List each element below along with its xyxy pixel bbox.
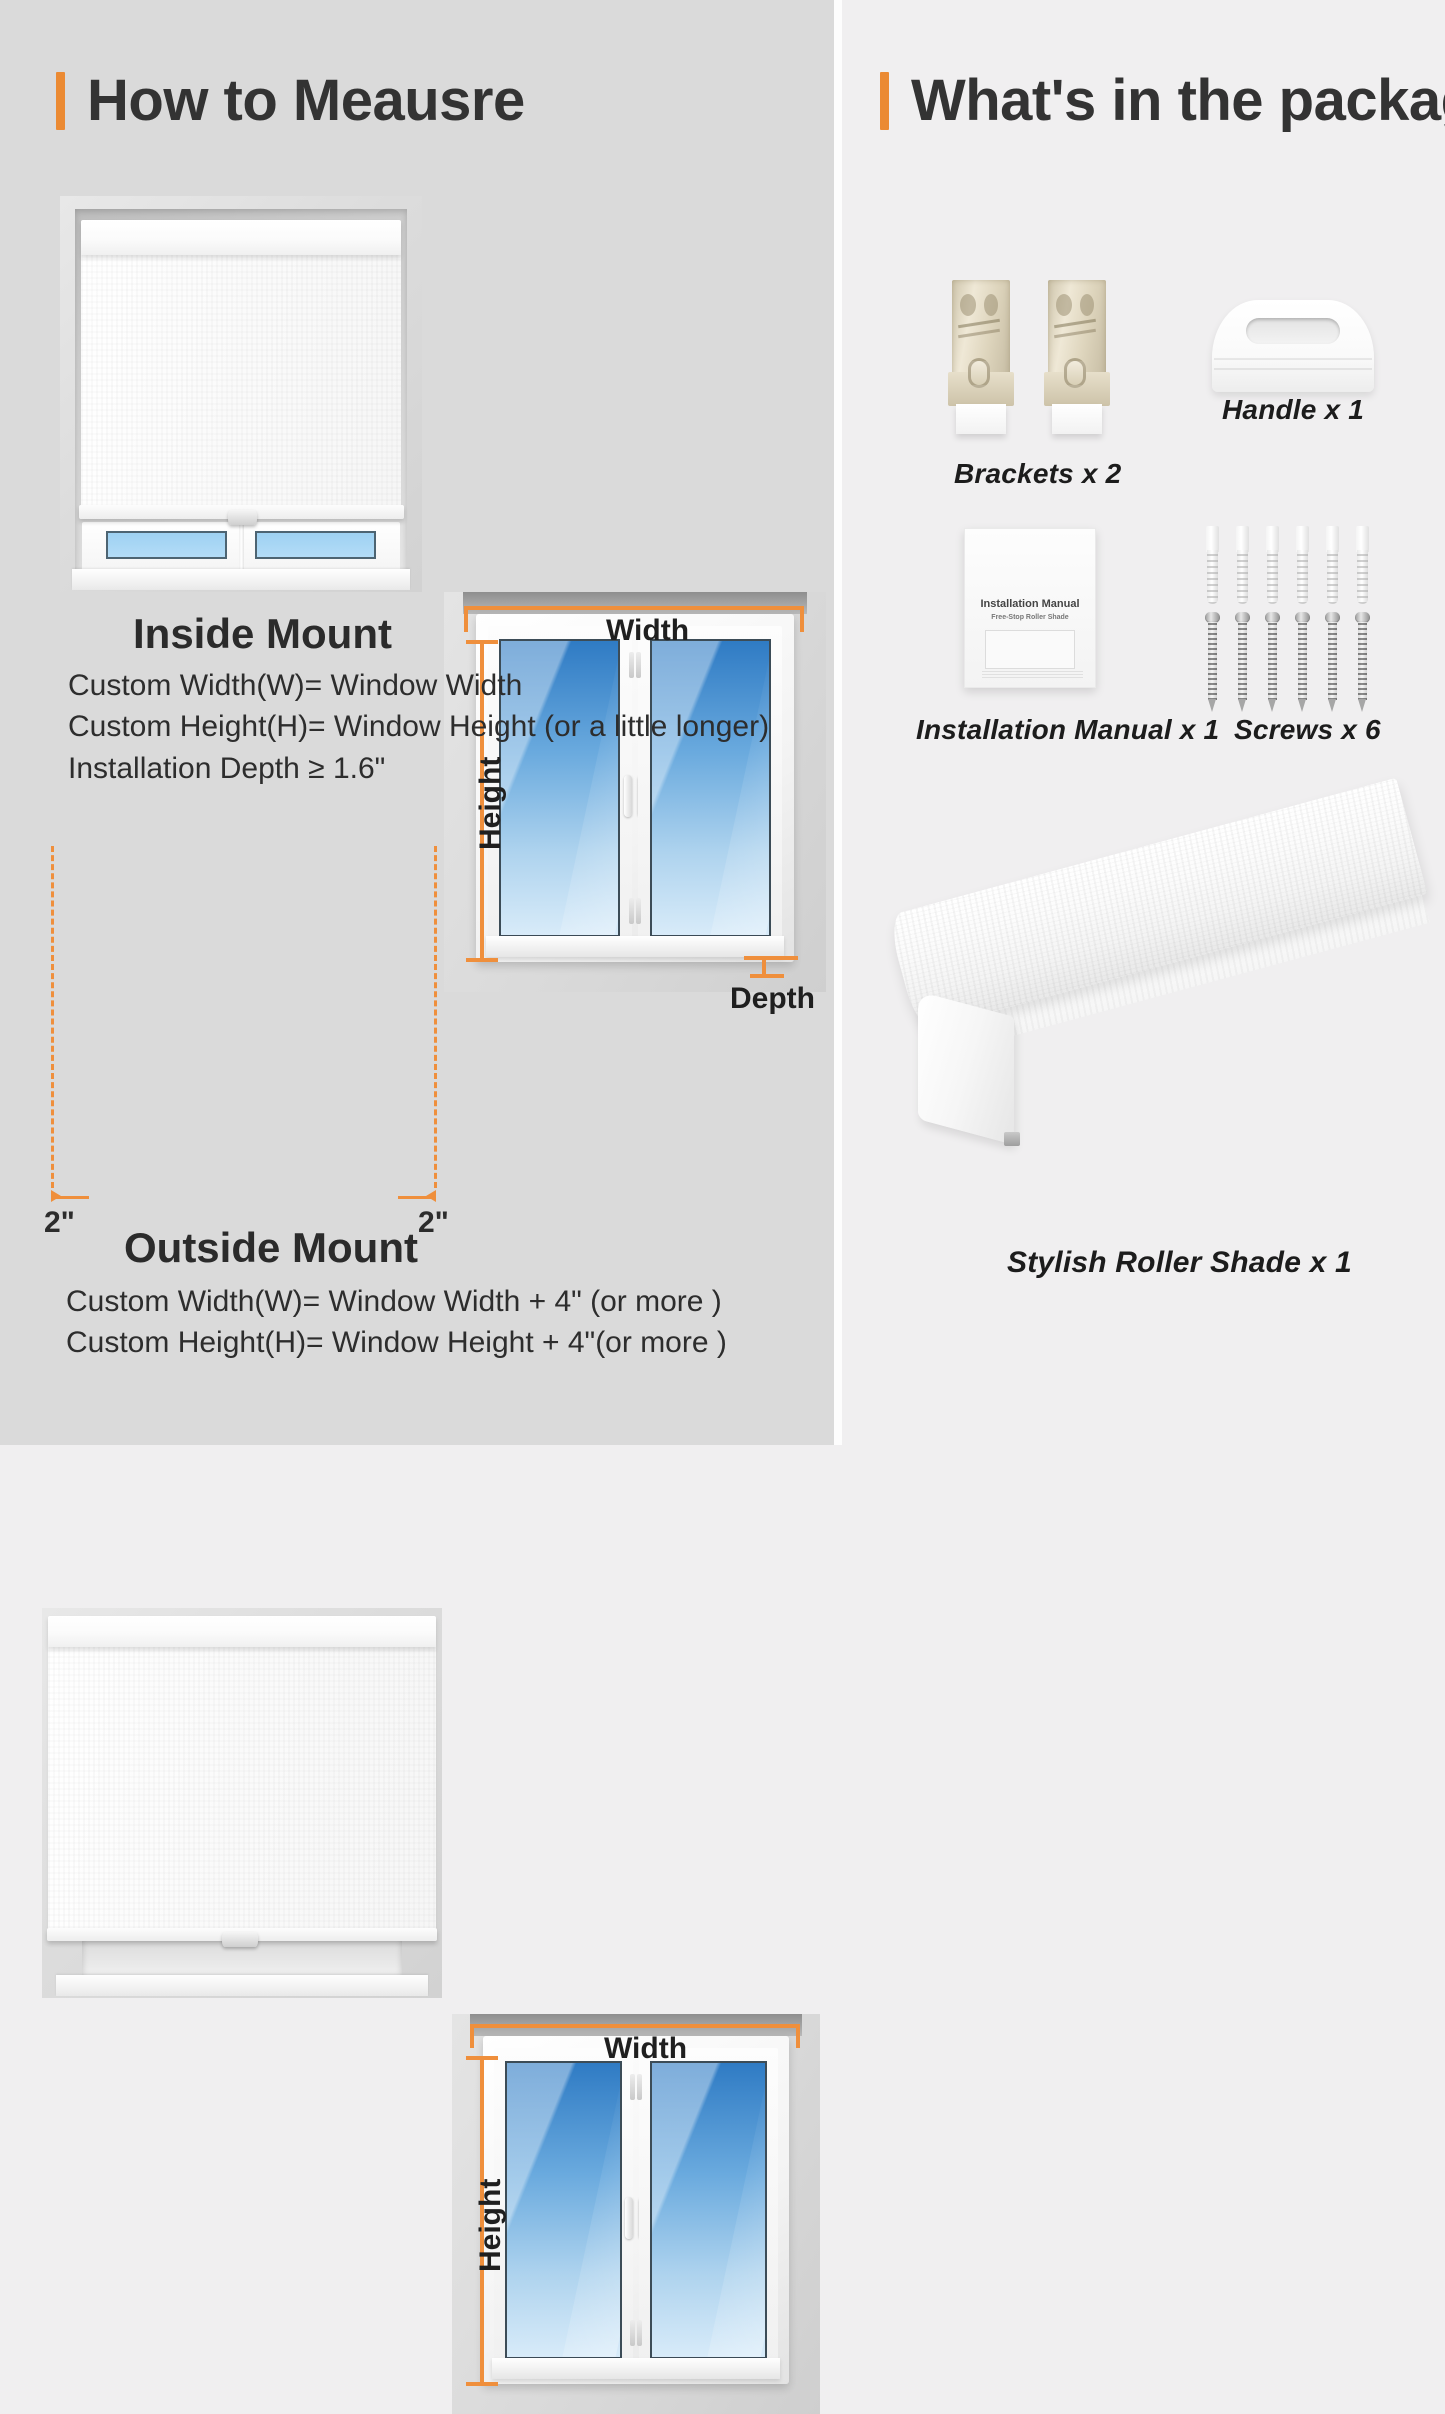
bracket-tab bbox=[1052, 404, 1102, 434]
brackets-label: Brackets x 2 bbox=[954, 458, 1121, 490]
anchor-neck bbox=[1326, 526, 1339, 552]
outside-mount-specs: Custom Width(W)= Window Width + 4" (or m… bbox=[66, 1284, 727, 1367]
overhang-guide-right bbox=[434, 846, 437, 1188]
window-sash-left bbox=[494, 2048, 633, 2372]
manual-cover-diagram bbox=[985, 630, 1075, 668]
window-pane-left bbox=[505, 2061, 622, 2359]
shade-fabric bbox=[81, 255, 401, 506]
screw-shaft bbox=[1328, 622, 1337, 700]
outside-mount-shade-illustration bbox=[42, 1608, 442, 1998]
bracket-slot bbox=[1064, 358, 1086, 388]
height-guide-tick-bottom bbox=[466, 2382, 498, 2386]
hinge-icon bbox=[637, 2320, 642, 2346]
shade-fabric bbox=[48, 1647, 436, 1928]
anchor-body bbox=[1267, 550, 1278, 604]
window-lintel bbox=[463, 592, 807, 614]
shade-headrail bbox=[48, 1616, 436, 1647]
anchor-neck bbox=[1266, 526, 1279, 552]
manual-cover-subtitle: Free-Stop Roller Shade bbox=[964, 614, 1096, 621]
arrow-icon bbox=[51, 1190, 61, 1202]
anchor-body bbox=[1357, 550, 1368, 604]
screw-unit bbox=[1265, 612, 1280, 712]
lower-window-sash bbox=[82, 522, 399, 575]
anchor-neck bbox=[1206, 526, 1219, 552]
screw-unit bbox=[1205, 612, 1220, 712]
mounting-bracket-icon bbox=[938, 280, 1148, 450]
width-guide-tick-left bbox=[470, 2024, 474, 2048]
window-glass-right bbox=[255, 531, 376, 559]
roller-shade-label: Stylish Roller Shade x 1 bbox=[1007, 1246, 1352, 1280]
width-guide-tick-left bbox=[464, 606, 468, 632]
screw-shaft bbox=[1268, 622, 1277, 700]
bracket-unit bbox=[948, 280, 1014, 438]
depth-label: Depth bbox=[730, 982, 815, 1016]
window-frame bbox=[483, 2036, 788, 2384]
handle-seam bbox=[1214, 358, 1372, 360]
spec-line: Installation Depth ≥ 1.6" bbox=[68, 751, 769, 786]
shade-pull-handle bbox=[228, 510, 257, 524]
wall-anchor bbox=[1234, 526, 1251, 604]
anchor-body bbox=[1297, 550, 1308, 604]
height-label: Height bbox=[474, 2179, 508, 2272]
spec-line: Custom Width(W)= Window Width + 4" (or m… bbox=[66, 1284, 727, 1319]
screw-unit bbox=[1295, 612, 1310, 712]
anchor-body bbox=[1237, 550, 1248, 604]
inside-mount-title: Inside Mount bbox=[133, 610, 392, 658]
width-label: Width bbox=[606, 614, 689, 648]
screw-tip bbox=[1328, 699, 1336, 712]
anchor-neck bbox=[1236, 526, 1249, 552]
shade-headrail bbox=[81, 220, 401, 256]
wall-anchor bbox=[1264, 526, 1281, 604]
spec-line: Custom Height(H)= Window Height + 4"(or … bbox=[66, 1325, 727, 1360]
window-sill bbox=[72, 569, 409, 590]
shade-pull-handle bbox=[222, 1932, 258, 1946]
anchor-body bbox=[1327, 550, 1338, 604]
depth-guide-line bbox=[744, 956, 798, 960]
handle-label: Handle x 1 bbox=[1222, 394, 1364, 426]
screw-unit bbox=[1235, 612, 1250, 712]
anchor-body bbox=[1207, 550, 1218, 604]
accent-bar-icon bbox=[56, 72, 65, 130]
screw-tip bbox=[1208, 699, 1216, 712]
screw-unit bbox=[1355, 612, 1370, 712]
handle-seam bbox=[1214, 368, 1372, 370]
panel-divider bbox=[834, 0, 842, 1445]
manual-cover-footer bbox=[982, 670, 1082, 678]
screws-label: Screws x 6 bbox=[1234, 714, 1381, 746]
width-guide-tick-right bbox=[800, 606, 804, 632]
heading-text-right: What's in the package bbox=[911, 72, 1445, 130]
screw-tip bbox=[1238, 699, 1246, 712]
shade-handle-icon bbox=[1212, 300, 1374, 392]
accent-bar-icon bbox=[880, 72, 889, 130]
overhang-label-left: 2" bbox=[44, 1206, 75, 1240]
hinge-icon bbox=[629, 898, 634, 924]
screw-unit bbox=[1325, 612, 1340, 712]
roller-shade-bracket-clip bbox=[1004, 1132, 1020, 1146]
height-guide-tick-top bbox=[466, 2056, 498, 2060]
arrow-icon bbox=[426, 1190, 436, 1202]
window-sill bbox=[486, 936, 784, 957]
handle-shell bbox=[1212, 300, 1374, 392]
inside-mount-specs: Custom Width(W)= Window Width Custom Hei… bbox=[68, 668, 769, 792]
bracket-tab bbox=[956, 404, 1006, 434]
wall-anchor bbox=[1324, 526, 1341, 604]
spec-line: Custom Width(W)= Window Width bbox=[68, 668, 769, 703]
depth-guide-foot bbox=[750, 974, 784, 978]
width-guide-line bbox=[464, 606, 804, 610]
window-sill bbox=[56, 1975, 429, 1995]
window-handle-icon bbox=[625, 2197, 633, 2239]
window-glass-left bbox=[106, 531, 227, 559]
page-title-left: How to Meausre bbox=[56, 72, 525, 130]
height-guide-tick-top bbox=[466, 640, 498, 644]
heading-text-left: How to Meausre bbox=[87, 72, 525, 130]
roller-shade-icon bbox=[918, 876, 1438, 1216]
anchor-neck bbox=[1356, 526, 1369, 552]
bracket-unit bbox=[1044, 280, 1110, 438]
screw-tip bbox=[1268, 699, 1276, 712]
wall-anchor bbox=[1354, 526, 1371, 604]
screw-shaft bbox=[1298, 622, 1307, 700]
bracket-slot bbox=[968, 358, 990, 388]
window-sill bbox=[492, 2358, 779, 2379]
width-guide-tick-right bbox=[796, 2024, 800, 2048]
window-mullion bbox=[239, 525, 244, 572]
width-label: Width bbox=[604, 2032, 687, 2066]
wall-anchor bbox=[1204, 526, 1221, 604]
outside-mount-title: Outside Mount bbox=[124, 1224, 418, 1272]
package-contents-panel: What's in the package Brackets x 2 bbox=[842, 0, 1445, 1445]
anchor-neck bbox=[1296, 526, 1309, 552]
overhang-guide-left bbox=[51, 846, 54, 1188]
hinge-icon bbox=[637, 2074, 642, 2100]
hinge-icon bbox=[636, 898, 641, 924]
window-sash-right bbox=[639, 2048, 778, 2372]
manual-booklet-icon: Installation Manual Free-Stop Roller Sha… bbox=[964, 528, 1096, 688]
width-guide-line bbox=[470, 2024, 800, 2028]
spec-line: Custom Height(H)= Window Height (or a li… bbox=[68, 709, 769, 744]
screw-tip bbox=[1358, 699, 1366, 712]
height-guide-tick-bottom bbox=[466, 958, 498, 962]
overhang-label-right: 2" bbox=[418, 1206, 449, 1240]
installation-manual-label: Installation Manual x 1 bbox=[916, 714, 1219, 746]
hinge-icon bbox=[630, 2320, 635, 2346]
screw-tip bbox=[1298, 699, 1306, 712]
screw-shaft bbox=[1238, 622, 1247, 700]
infographic-page: How to Meausre bbox=[0, 0, 1445, 1445]
outside-mount-measure-illustration: Width Height bbox=[452, 2014, 820, 2414]
manual-cover-title: Installation Manual bbox=[964, 598, 1096, 610]
inside-mount-shade-illustration bbox=[60, 196, 422, 592]
screw-shaft bbox=[1208, 622, 1217, 700]
hinge-icon bbox=[630, 2074, 635, 2100]
page-title-right: What's in the package bbox=[880, 72, 1445, 130]
screw-shaft bbox=[1358, 622, 1367, 700]
how-to-measure-panel: How to Meausre bbox=[0, 0, 834, 1445]
roller-shade-end-cap bbox=[918, 991, 1014, 1145]
handle-grip-slot bbox=[1246, 318, 1340, 344]
wall-anchor bbox=[1294, 526, 1311, 604]
screw-icon bbox=[1204, 526, 1394, 706]
window-pane-right bbox=[650, 2061, 767, 2359]
